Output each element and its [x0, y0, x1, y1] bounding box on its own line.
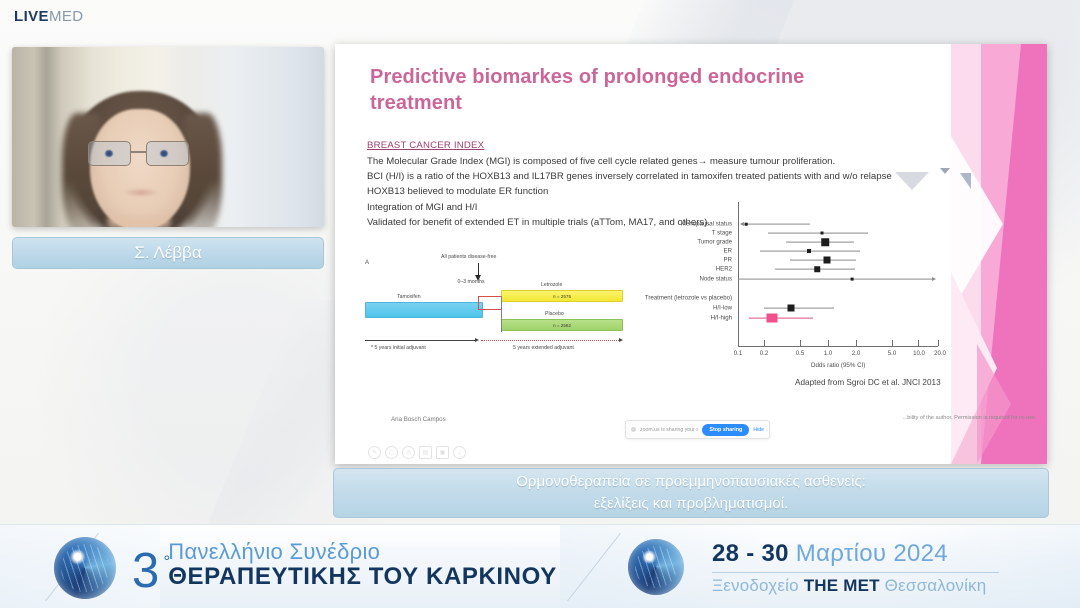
arm-label-placebo: Placebo: [545, 311, 564, 317]
forest-x-tick: 5.0: [888, 350, 896, 357]
copyright-note: ...bility of the author. Permission is r…: [903, 415, 1035, 421]
author-credit: Ana Bosch Campos: [391, 416, 446, 423]
subtitle-line-1: Ορμονοθεραπεία σε προεμμηνοπαυσιακές ασθ…: [516, 471, 865, 494]
forest-point-estimate-highlight: [767, 314, 778, 323]
congress-footer: 3° Πανελλήνιο Συνέδριο ΘΕΡΑΠΕΥΤΙΚΗΣ ΤΟΥ …: [0, 524, 1080, 608]
randomization-vline: [501, 296, 502, 332]
forest-row-label: HER2: [716, 266, 732, 273]
livemed-logo: LIVEMED: [14, 9, 84, 24]
forest-x-tick: 1.0: [824, 350, 832, 357]
forest-ci-bar: [786, 242, 854, 243]
bullet-line: The Molecular Grade Index (MGI) is compo…: [367, 154, 987, 169]
speaker-video-panel[interactable]: [12, 47, 324, 227]
congress-logo-right: [628, 539, 684, 595]
forest-point-estimate: [821, 238, 829, 246]
speaker-face: [90, 109, 190, 227]
speaker-glasses: [88, 141, 192, 167]
forest-x-tick: 2.0: [852, 350, 860, 357]
congress-line-2: ΘΕΡΑΠΕΥΤΙΚΗΣ ΤΟΥ ΚΑΡΚΙΝΟΥ: [168, 563, 557, 591]
congress-venue: Ξενοδοχείο THE MET Θεσσαλονίκη: [712, 576, 999, 596]
forest-point-estimate: [807, 249, 811, 253]
forest-point-estimate: [824, 257, 831, 264]
arm-bar-tamoxifen: [365, 302, 483, 318]
section-heading: BREAST CANCER INDEX: [367, 138, 484, 153]
congress-line-1: Πανελλήνιο Συνέδριο: [168, 539, 557, 565]
venue-name: THE MET: [804, 576, 880, 595]
forest-x-tick: 10.0: [913, 350, 925, 357]
interval-label-text: 0–3 months: [457, 279, 484, 285]
bullet-line: HOXB13 believed to modulate ER function: [367, 184, 987, 199]
spotlight-icon[interactable]: ◎: [402, 446, 415, 459]
hide-share-bar-link[interactable]: Hide: [753, 427, 764, 433]
figure-annotation-top: All patients disease-free: [441, 254, 496, 260]
stop-sharing-button[interactable]: Stop sharing: [702, 424, 749, 436]
forest-x-tick: 20.0: [934, 350, 946, 357]
timeline-arrow-initial-icon: [475, 338, 479, 342]
arm-label-tamoxifen: Tamoxifen: [397, 294, 421, 300]
pencil-icon[interactable]: ✎: [368, 446, 381, 459]
slide-decoration: [951, 44, 1047, 464]
shared-slide[interactable]: Predictive biomarkes of prolonged endocr…: [335, 44, 1047, 464]
footer-left-block: 3° Πανελλήνιο Συνέδριο ΘΕΡΑΠΕΥΤΙΚΗΣ ΤΟΥ …: [132, 539, 557, 591]
forest-row-label: Tumor grade: [697, 239, 732, 246]
forest-point-estimate: [851, 278, 854, 281]
annotation-toolbar[interactable]: ✎ ▢ ◎ ▤ ▣ ⌄: [368, 446, 466, 459]
timeline-label-initial: * 5 years initial adjuvant: [371, 345, 426, 351]
forest-point-estimate: [814, 266, 820, 272]
subtitle-line-2: εξελίξεις και προβληματισμοί.: [594, 493, 789, 516]
share-status-icon: [631, 427, 636, 432]
arm-bar-placebo: n = 2582: [501, 319, 623, 331]
forest-point-estimate: [745, 223, 748, 226]
timeline-initial: [365, 340, 477, 341]
forest-row-label: PR: [724, 257, 732, 264]
forest-ci-bar: [764, 308, 834, 309]
more-icon[interactable]: ⌄: [453, 446, 466, 459]
timeline-extended: [481, 340, 621, 341]
congress-dates-range: 28 - 30: [712, 540, 789, 567]
congress-ordinal-number: 3: [132, 544, 159, 598]
congress-dates: 28 - 30 Μαρτίου 2024: [712, 540, 999, 568]
forest-row-label: H/I-low: [713, 305, 732, 312]
arm-label-letrozole: Letrozole: [541, 282, 562, 288]
eye-left: [105, 150, 113, 157]
forest-row-label: ER: [724, 248, 732, 255]
eye-right: [160, 150, 168, 157]
forest-row-label: H/I-high: [711, 315, 732, 322]
forest-point-estimate: [788, 305, 795, 312]
webcam-feed: [12, 47, 324, 227]
stamp-icon[interactable]: ▢: [385, 446, 398, 459]
arm-bar-letrozole: n = 2575: [501, 290, 623, 302]
randomization-connector: [478, 296, 502, 310]
forest-row-label: Node status: [699, 276, 732, 283]
speaker-name-text: Σ. Λέββα: [134, 243, 201, 263]
forest-ci-bar: [738, 279, 934, 280]
slide-title: Predictive biomarkes of prolonged endocr…: [370, 65, 850, 116]
figure-panel-label: A: [365, 260, 369, 266]
video-icon[interactable]: ▣: [436, 446, 449, 459]
forest-ci-bar: [768, 233, 868, 234]
arm-n-letrozole: n = 2575: [553, 294, 571, 299]
forest-row-label: T stage: [712, 230, 732, 237]
bullet-line: BCI (H/I) is a ratio of the HOXB13 and I…: [367, 169, 987, 184]
speaker-name-bar: Σ. Λέββα: [12, 237, 324, 269]
forest-x-tick: 0.5: [796, 350, 804, 357]
figure-citation: Adapted from Sgroi DC et al. JNCI 2013: [795, 378, 941, 387]
logo-live-text: LIVE: [14, 8, 49, 25]
congress-logo-left: [54, 537, 116, 599]
forest-x-tick: 0.2: [760, 350, 768, 357]
congress-ordinal: 3°: [132, 551, 159, 591]
eraser-icon[interactable]: ▤: [419, 446, 432, 459]
bullet-line: Integration of MGI and H/I: [367, 200, 987, 215]
timeline-label-extended: 5 years extended adjuvant: [513, 345, 574, 351]
glasses-bridge: [131, 151, 146, 153]
congress-ordinal-degree: °: [163, 553, 170, 570]
forest-point-estimate: [821, 232, 824, 235]
arm-n-placebo: n = 2582: [553, 323, 571, 328]
forest-x-tick: 0.1: [734, 350, 742, 357]
forest-x-axis-label: Odds ratio (95% CI): [811, 362, 866, 369]
forest-row-label: Menopausal status: [681, 221, 732, 228]
session-subtitle-bar: Ορμονοθεραπεία σε προεμμηνοπαυσιακές ασθ…: [333, 468, 1049, 518]
interval-label: 0–3 months: [457, 280, 485, 286]
speaker-mouth: [124, 189, 158, 196]
forest-reference-line: [738, 202, 739, 346]
footer-divider: [712, 572, 999, 573]
share-message: zoom.us is sharing your screen.: [640, 427, 698, 433]
forest-plot-figure: Menopausal status T stage Tumor grade ER…: [620, 216, 950, 386]
venue-city: Θεσσαλονίκη: [885, 576, 987, 595]
speaker-neck: [108, 217, 170, 227]
forest-ci-bar-highlight: [749, 318, 813, 319]
logo-med-text: MED: [49, 8, 84, 25]
congress-dates-month: Μαρτίου 2024: [796, 540, 948, 567]
screen-root: LIVEMED Σ. Λέββα: [0, 0, 1080, 608]
trial-schema-figure: A All patients disease-free 0–3 months T…: [365, 252, 640, 357]
forest-arrow-right-icon: [932, 277, 936, 281]
forest-ci-bar: [744, 224, 810, 225]
forest-group-label: Treatment (letrozole vs placebo): [645, 295, 732, 302]
footer-right-block: 28 - 30 Μαρτίου 2024 Ξενοδοχείο THE MET …: [712, 540, 999, 596]
forest-arrow-left-icon: [740, 222, 744, 226]
screen-share-bar[interactable]: zoom.us is sharing your screen. Stop sha…: [625, 420, 770, 439]
venue-prefix: Ξενοδοχείο: [712, 576, 799, 595]
forest-x-axis: [738, 346, 938, 347]
